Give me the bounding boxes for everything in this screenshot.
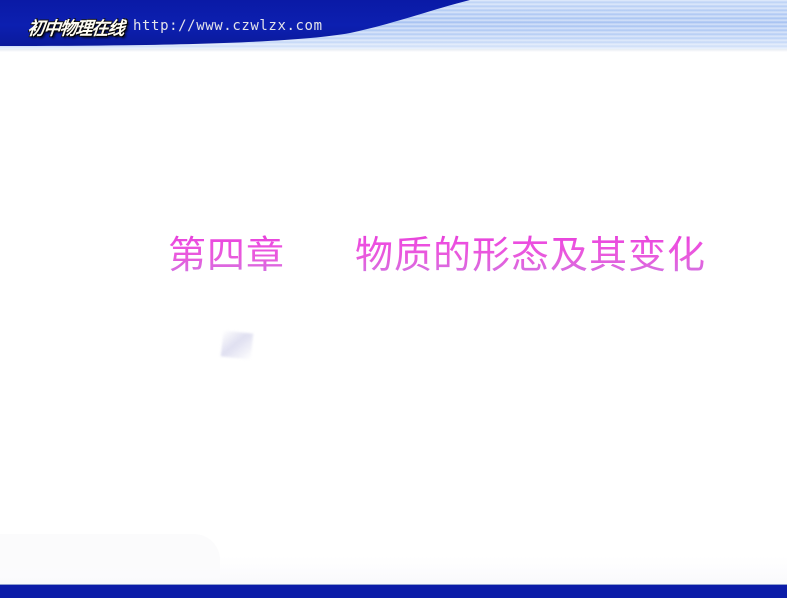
footer-bar: [0, 585, 787, 598]
header-banner: 初中物理在线 http://www.czwlzx.com: [0, 0, 787, 49]
chapter-name-label: 物质的形态及其变化: [355, 232, 706, 278]
decorative-swoosh: [221, 331, 254, 360]
site-url-text: http://www.czwlzx.com: [133, 18, 323, 34]
chapter-title: 第四章 物质的形态及其变化: [168, 232, 706, 278]
chapter-number-label: 第四章: [168, 232, 285, 278]
site-logo-text: 初中物理在线: [27, 13, 126, 40]
decorative-bottom-wash: [0, 556, 787, 586]
presentation-slide: 初中物理在线 http://www.czwlzx.com 第四章 物质的形态及其…: [0, 0, 787, 598]
header-underline: [0, 49, 787, 52]
site-branding: 初中物理在线 http://www.czwlzx.com: [28, 13, 323, 39]
